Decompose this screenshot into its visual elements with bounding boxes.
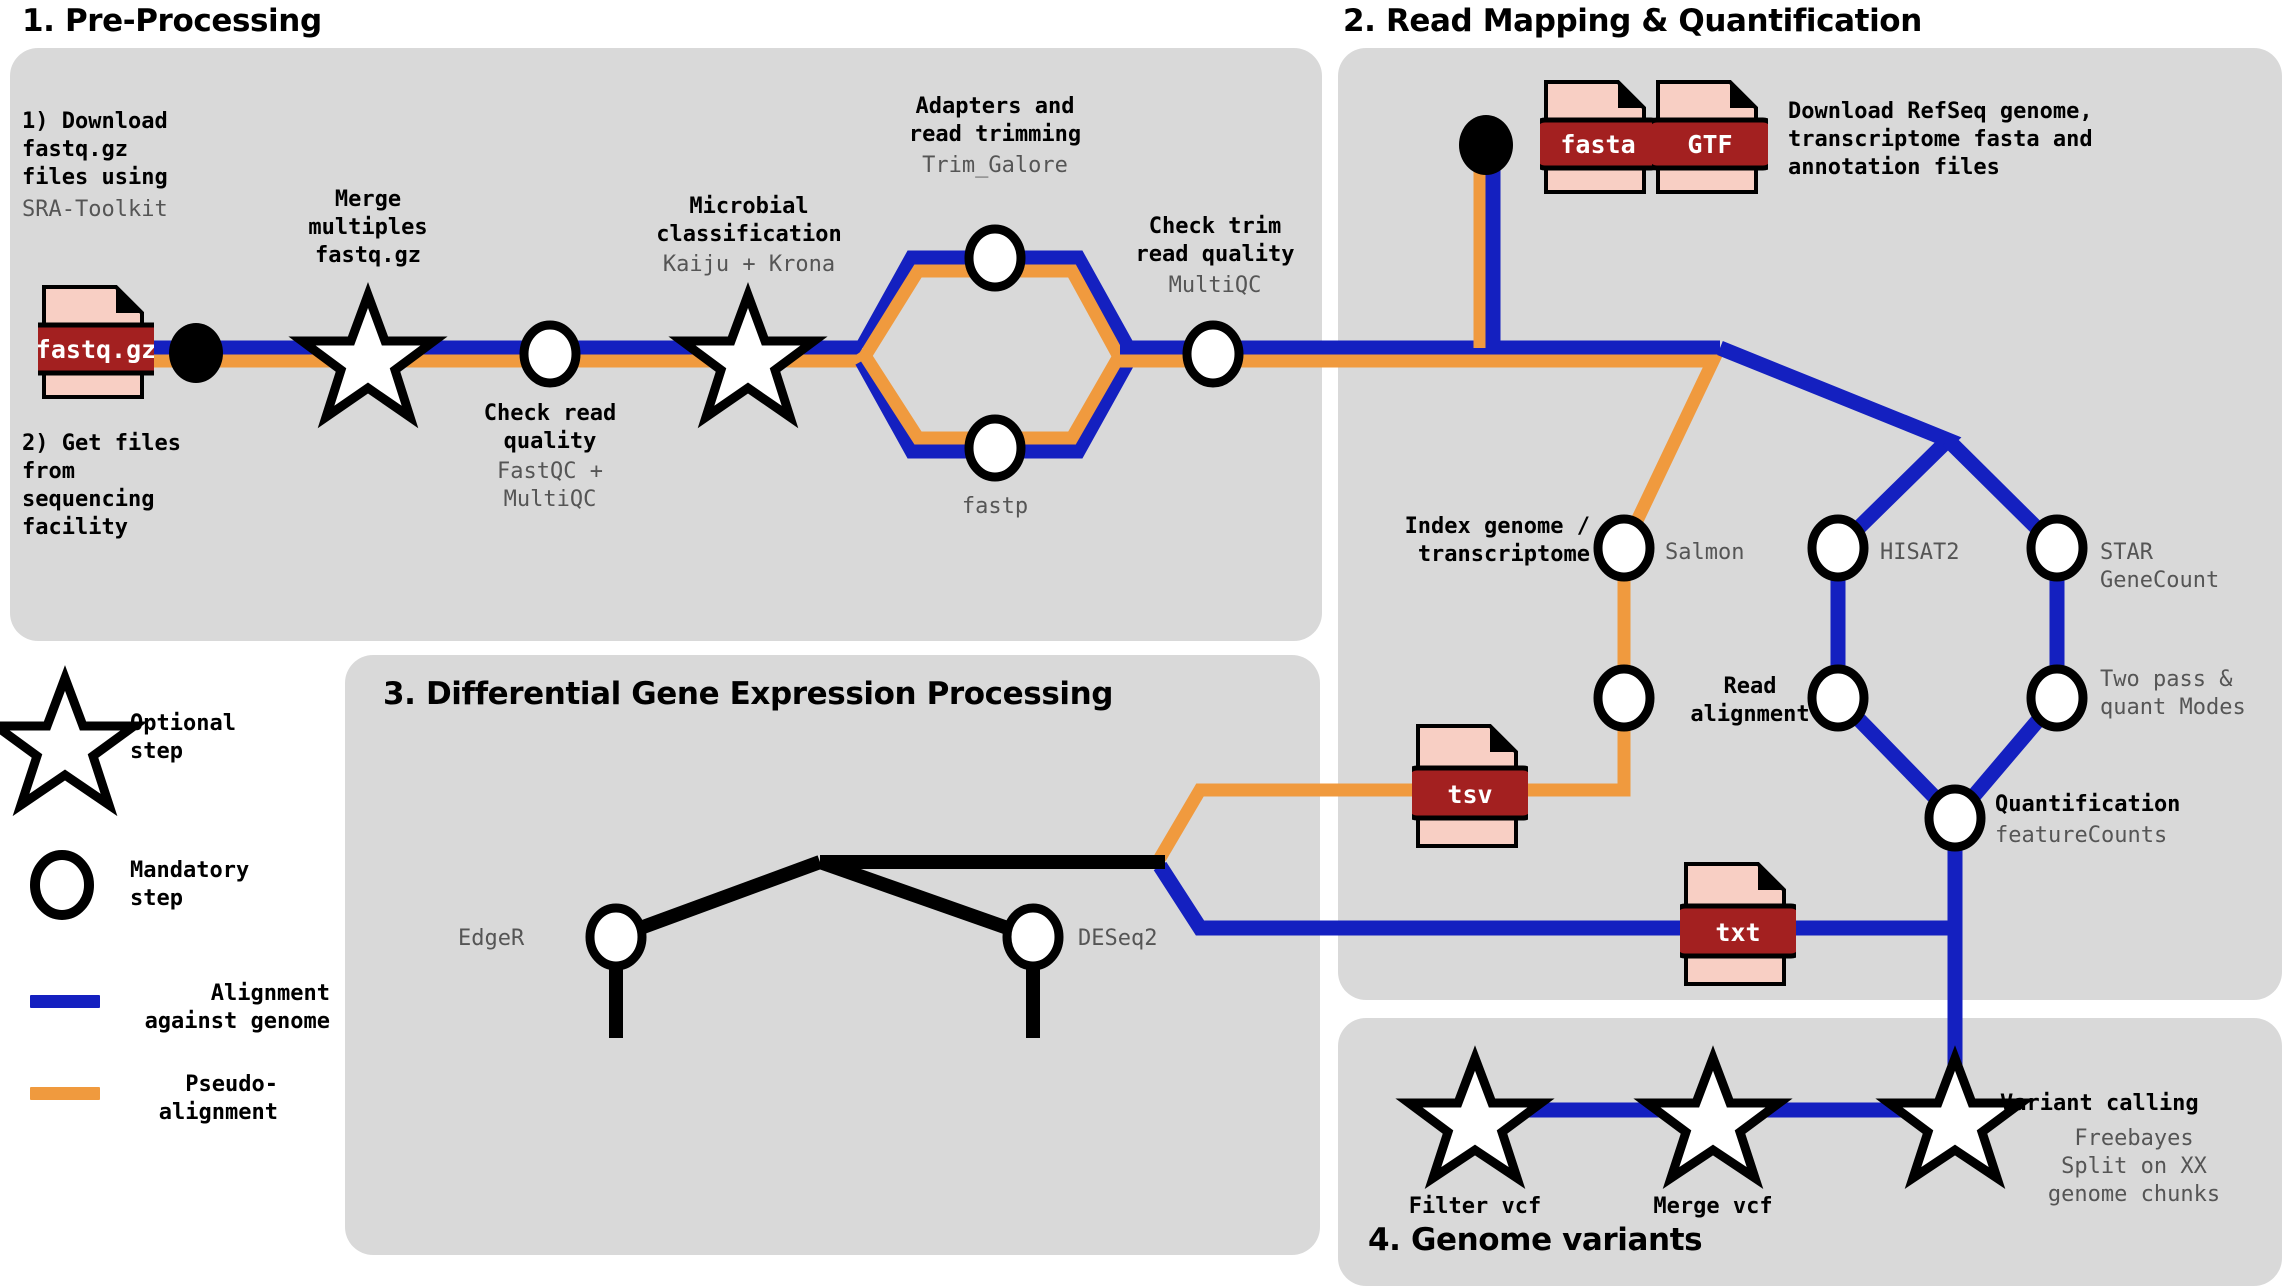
note-get-files-sequencing: 2) Get files from sequencing facility — [22, 430, 181, 543]
file-tag-text: tsv — [1447, 780, 1492, 809]
file-icon-txt: txt — [1680, 860, 1796, 992]
file-icon-tsv: tsv — [1412, 722, 1528, 854]
label-microbial-classification: Microbial classification — [638, 193, 860, 249]
note-download-fastq: 1) Download fastq.gz files using — [22, 108, 168, 192]
label-two-pass-quant: Two pass & quant Modes — [2100, 666, 2246, 722]
legend-alignment-label: Alignment against genome — [0, 980, 330, 1036]
label-star-genecount: STAR GeneCount — [2100, 539, 2219, 595]
panel-title-preprocessing: 1. Pre-Processing — [22, 3, 322, 39]
label-fastp: fastp — [895, 493, 1095, 521]
label-hisat2: HISAT2 — [1880, 539, 1959, 567]
label-fastqc-multiqc: FastQC + MultiQC — [450, 458, 650, 514]
label-check-read-quality: Check read quality — [450, 400, 650, 456]
label-trim-galore: Trim_Galore — [870, 152, 1120, 180]
label-kaiju-krona: Kaiju + Krona — [638, 251, 860, 279]
label-featurecounts: featureCounts — [1995, 822, 2167, 850]
file-icon-gtf: GTF — [1652, 78, 1768, 200]
label-merge-multiples: Merge multiples fastq.gz — [268, 186, 468, 270]
note-download-refseq: Download RefSeq genome, transcriptome fa… — [1788, 98, 2093, 182]
label-edger: EdgeR — [458, 925, 524, 953]
file-tag-text: txt — [1715, 918, 1760, 947]
legend-pseudo-label: Pseudo- alignment — [0, 1071, 278, 1127]
label-deseq2: DESeq2 — [1078, 925, 1157, 953]
label-filter-vcf: Filter vcf — [1380, 1193, 1570, 1221]
file-tag-text: fastq.gz — [38, 335, 154, 364]
file-tag-text: fasta — [1560, 130, 1635, 159]
panel-title-mapping: 2. Read Mapping & Quantification — [1343, 3, 1922, 39]
label-freebayes: Freebayes Split on XX genome chunks — [2000, 1125, 2268, 1209]
label-index-genome: Index genome / transcriptome — [1340, 513, 1590, 569]
label-multiqc: MultiQC — [1100, 272, 1330, 300]
file-tag-text: GTF — [1687, 130, 1732, 159]
label-read-alignment: Read alignment — [1660, 673, 1840, 729]
panel-title-dge: 3. Differential Gene Expression Processi… — [383, 676, 1113, 712]
panel-preprocessing — [10, 48, 1322, 641]
label-salmon: Salmon — [1665, 539, 1744, 567]
label-quantification: Quantification — [1995, 791, 2180, 819]
legend-optional-label: Optional step — [130, 710, 236, 766]
file-icon-fastq-gz: fastq.gz — [38, 283, 154, 405]
note-sra-toolkit: SRA-Toolkit — [22, 196, 168, 224]
legend-mandatory-label: Mandatory step — [130, 857, 249, 913]
label-merge-vcf: Merge vcf — [1618, 1193, 1808, 1221]
legend-mandatory-circle-icon — [35, 855, 89, 915]
legend-optional-star-icon — [0, 678, 134, 805]
panel-title-variants: 4. Genome variants — [1368, 1222, 1702, 1258]
label-variant-calling: Variant calling — [2000, 1090, 2199, 1118]
label-adapters-trimming: Adapters and read trimming — [870, 93, 1120, 149]
label-check-trim-quality: Check trim read quality — [1100, 213, 1330, 269]
file-icon-fasta: fasta — [1540, 78, 1656, 200]
panel-dge — [345, 655, 1320, 1255]
